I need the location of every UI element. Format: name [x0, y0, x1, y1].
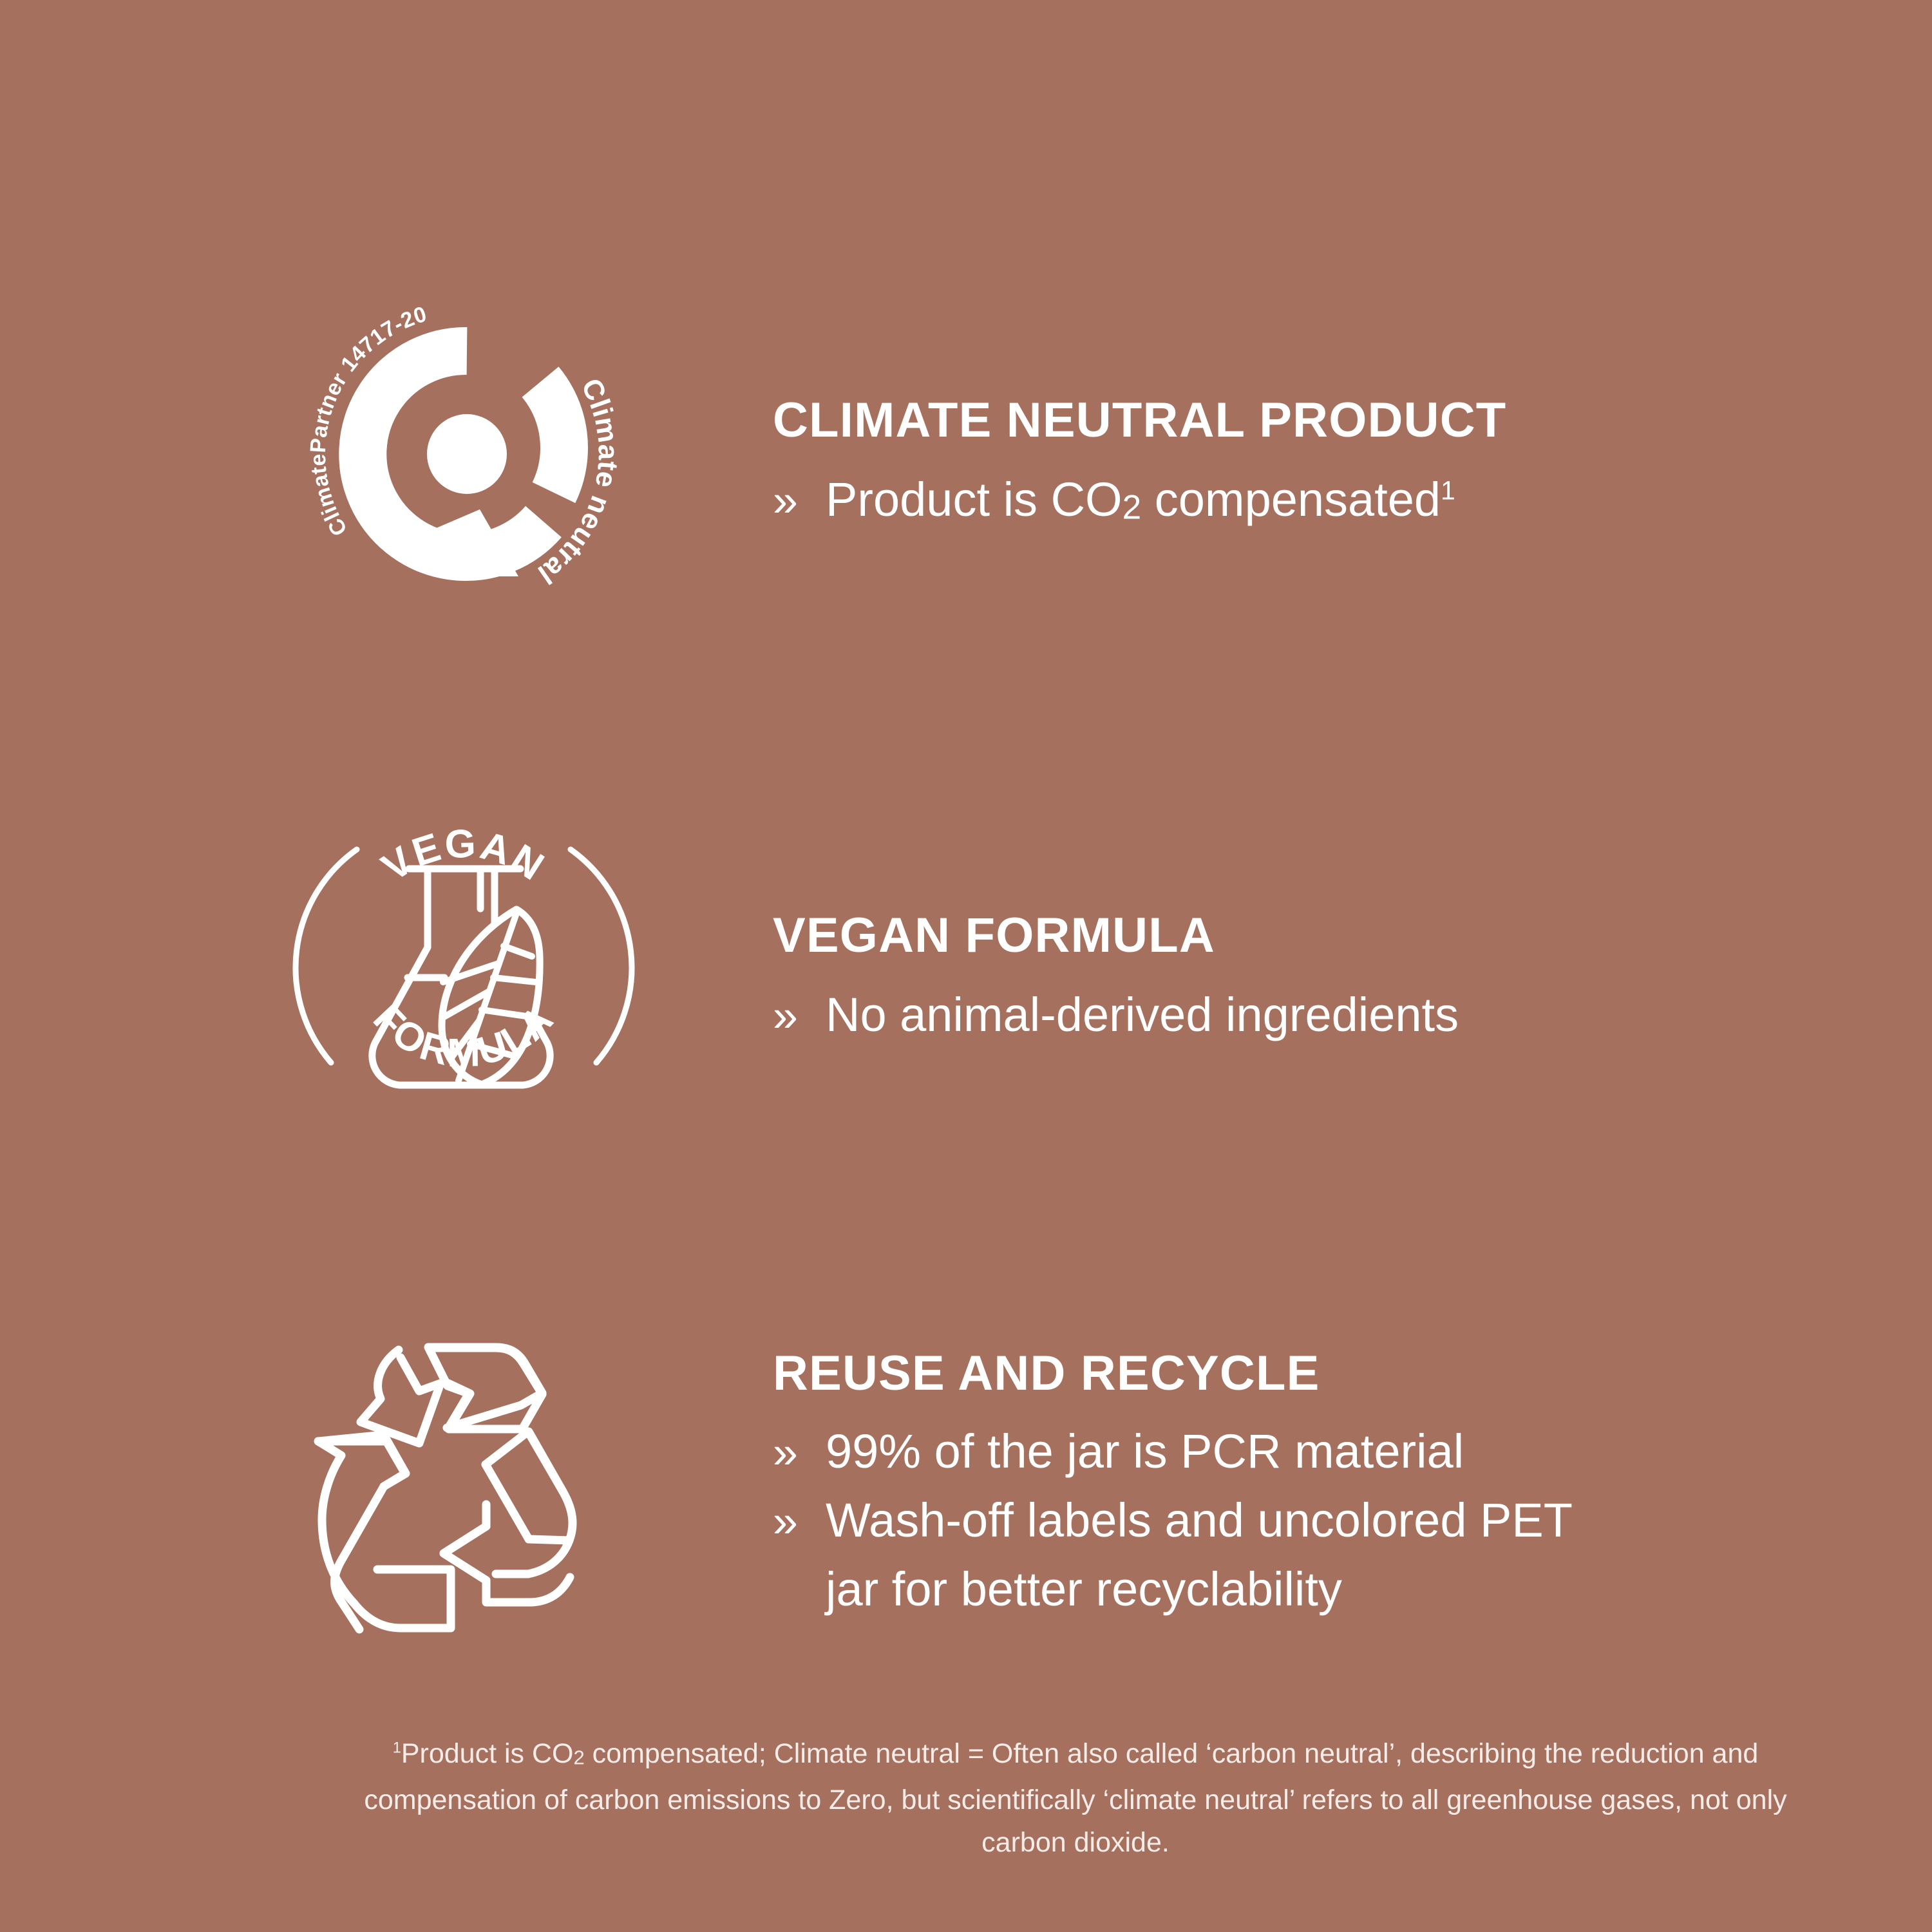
- climate-neutral-bullet-list: » Product is CO2 compensated1: [773, 466, 1868, 541]
- vegan-formula-seal-badge: VEGAN FORMULA: [283, 776, 644, 1137]
- list-item: » 99% of the jar is PCR material: [773, 1417, 1868, 1486]
- recycle-loop-icon: [303, 1327, 625, 1649]
- vegan-formula-seal-icon: VEGAN FORMULA: [290, 782, 638, 1130]
- seal-arc-left: [296, 849, 357, 1063]
- co2-subscript: 2: [1122, 488, 1142, 526]
- bullet-marker-icon: »: [773, 467, 826, 535]
- footnote-marker: 1: [393, 1740, 401, 1757]
- list-item: » Wash-off labels and uncolored PET: [773, 1486, 1868, 1555]
- footnote-co2-subscript: 2: [573, 1746, 584, 1768]
- vegan-formula-heading: VEGAN FORMULA: [773, 911, 1868, 960]
- footnote-reference-superscript: 1: [1441, 475, 1455, 505]
- bullet-marker-icon: »: [773, 1419, 826, 1486]
- climatepartner-seal-icon: ClimatePartner 14717-2005-1001 Climate n…: [287, 274, 647, 634]
- footnote: 1Product is CO2 compensated; Climate neu…: [348, 1732, 1803, 1864]
- climate-neutral-text-block: CLIMATE NEUTRAL PRODUCT » Product is CO2…: [773, 396, 1868, 541]
- seal-arc-right: [571, 849, 632, 1063]
- list-item: » Product is CO2 compensated1: [773, 466, 1868, 541]
- sustainability-claims-panel: ClimatePartner 14717-2005-1001 Climate n…: [0, 0, 1932, 1932]
- bullet-marker-icon: »: [773, 982, 826, 1050]
- list-item-continuation: jar for better recyclability: [773, 1555, 1868, 1623]
- bullet-text: 99% of the jar is PCR material: [826, 1417, 1464, 1485]
- footnote-line1-a: Product is CO: [401, 1738, 574, 1769]
- vegan-formula-text-block: VEGAN FORMULA » No animal-derived ingred…: [773, 911, 1868, 1050]
- climate-neutral-heading: CLIMATE NEUTRAL PRODUCT: [773, 396, 1868, 445]
- recycle-badge: [303, 1327, 625, 1649]
- bullet-text-continuation: jar for better recyclability: [826, 1555, 1342, 1623]
- climatepartner-seal-badge: ClimatePartner 14717-2005-1001 Climate n…: [277, 264, 657, 644]
- seal-top-arc-text: VEGAN: [374, 822, 553, 890]
- vegan-formula-bullet-list: » No animal-derived ingredients: [773, 981, 1868, 1050]
- list-item: » No animal-derived ingredients: [773, 981, 1868, 1050]
- reuse-recycle-bullet-list: » 99% of the jar is PCR material » Wash-…: [773, 1417, 1868, 1623]
- bullet-text: Product is CO2 compensated1: [826, 466, 1455, 541]
- reuse-recycle-text-block: REUSE AND RECYCLE » 99% of the jar is PC…: [773, 1349, 1868, 1623]
- svg-text:VEGAN: VEGAN: [374, 822, 553, 890]
- reuse-recycle-heading: REUSE AND RECYCLE: [773, 1349, 1868, 1398]
- bullet-text: No animal-derived ingredients: [826, 981, 1459, 1048]
- bullet-text-part-b: compensated: [1141, 473, 1441, 526]
- bullet-marker-icon: »: [773, 1488, 826, 1555]
- footnote-line1-b: compensated; Climate neutral = Often als…: [585, 1738, 1583, 1769]
- bullet-text: Wash-off labels and uncolored PET: [826, 1486, 1573, 1554]
- bullet-text-part-a: Product is CO: [826, 473, 1122, 526]
